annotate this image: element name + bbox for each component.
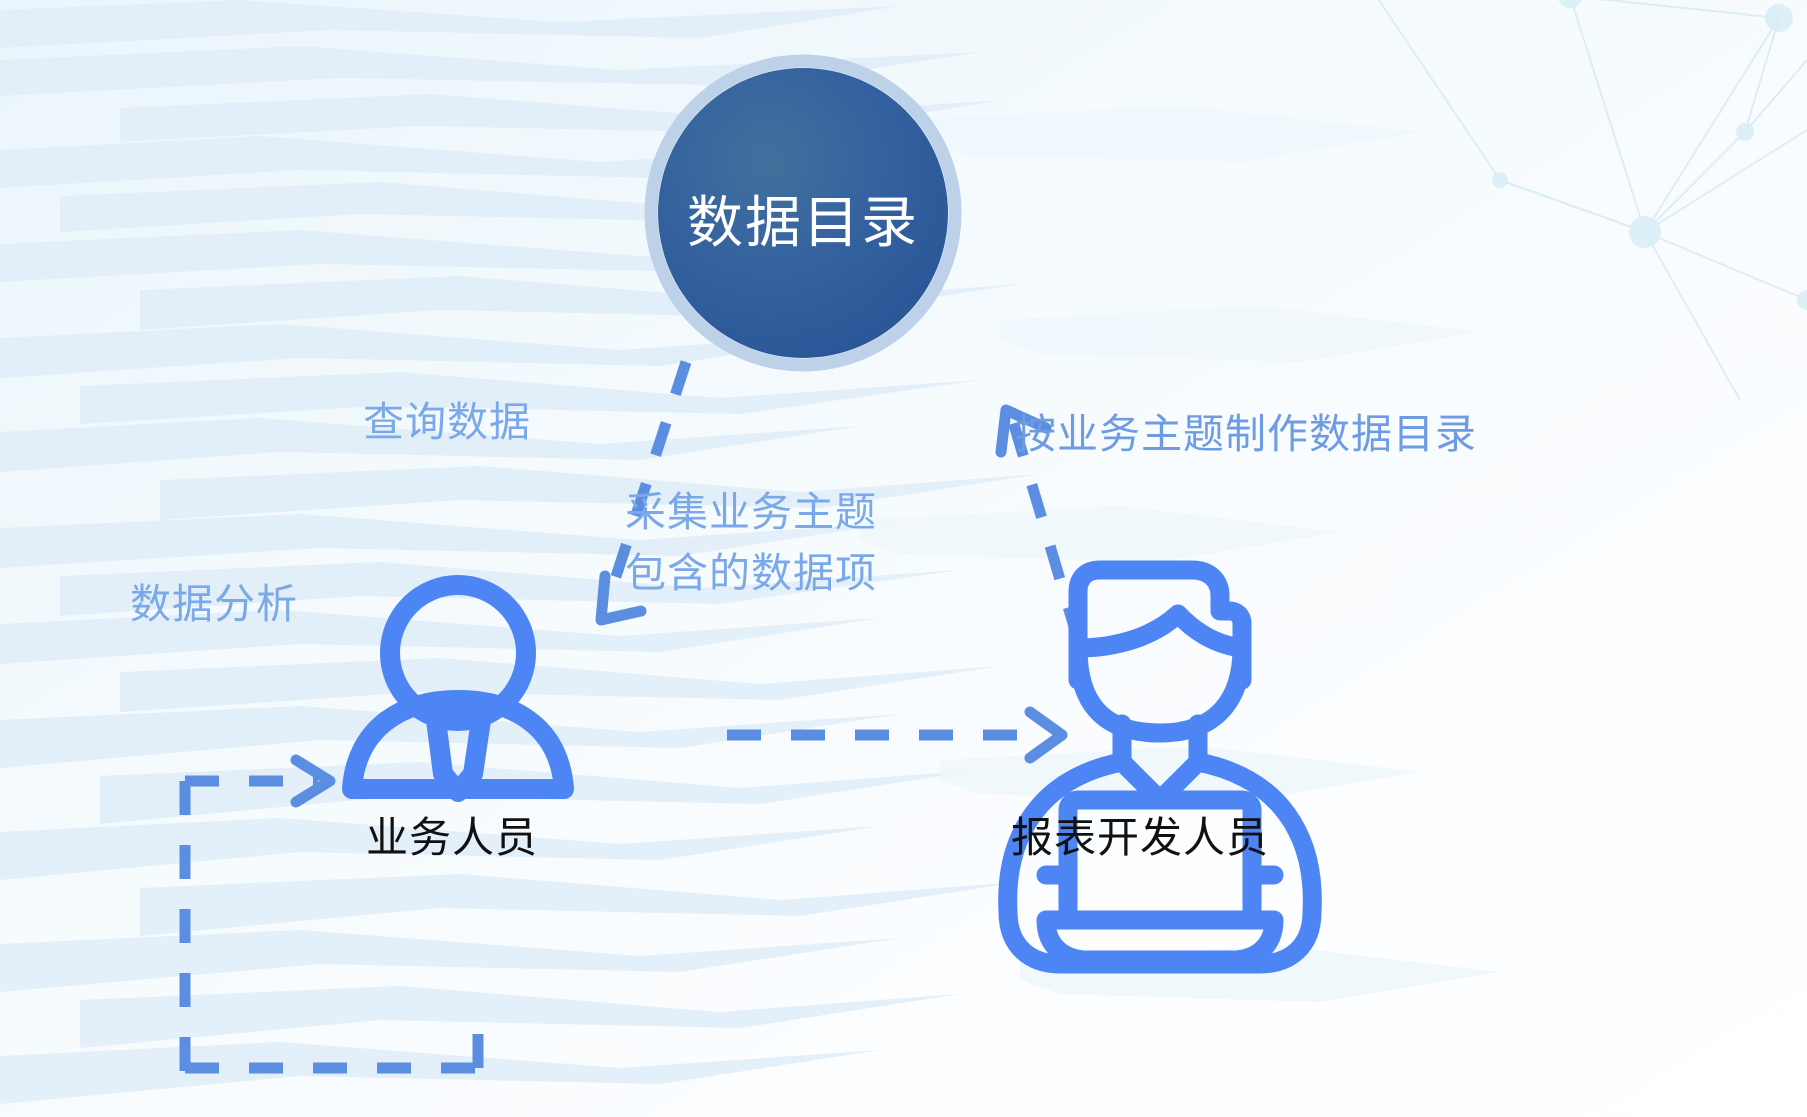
data-catalog-label: 数据目录 bbox=[673, 178, 933, 259]
business-person-label: 业务人员 bbox=[366, 804, 538, 865]
diagram-graphics bbox=[0, 0, 1807, 1117]
edge-collect-items-label-line1: 采集业务主题 bbox=[625, 482, 877, 543]
business-person-icon[interactable] bbox=[352, 585, 564, 792]
report-developer-icon[interactable] bbox=[1008, 570, 1313, 964]
edge-build-catalog-label: 按业务主题制作数据目录 bbox=[1015, 400, 1477, 460]
edge-data-analysis-label: 数据分析 bbox=[130, 570, 298, 630]
edge-collect-items-arrowhead bbox=[1030, 712, 1062, 758]
diagram-canvas: 数据目录 查询数据 采集业务主题 包含的数据项 按业务主题制作数据目录 数据分析… bbox=[0, 0, 1807, 1117]
edge-collect-items-label: 采集业务主题 包含的数据项 bbox=[625, 482, 877, 603]
edge-collect-items-label-line2: 包含的数据项 bbox=[625, 543, 877, 604]
report-developer-label: 报表开发人员 bbox=[1011, 804, 1269, 865]
edge-query-data-label: 查询数据 bbox=[363, 388, 531, 448]
